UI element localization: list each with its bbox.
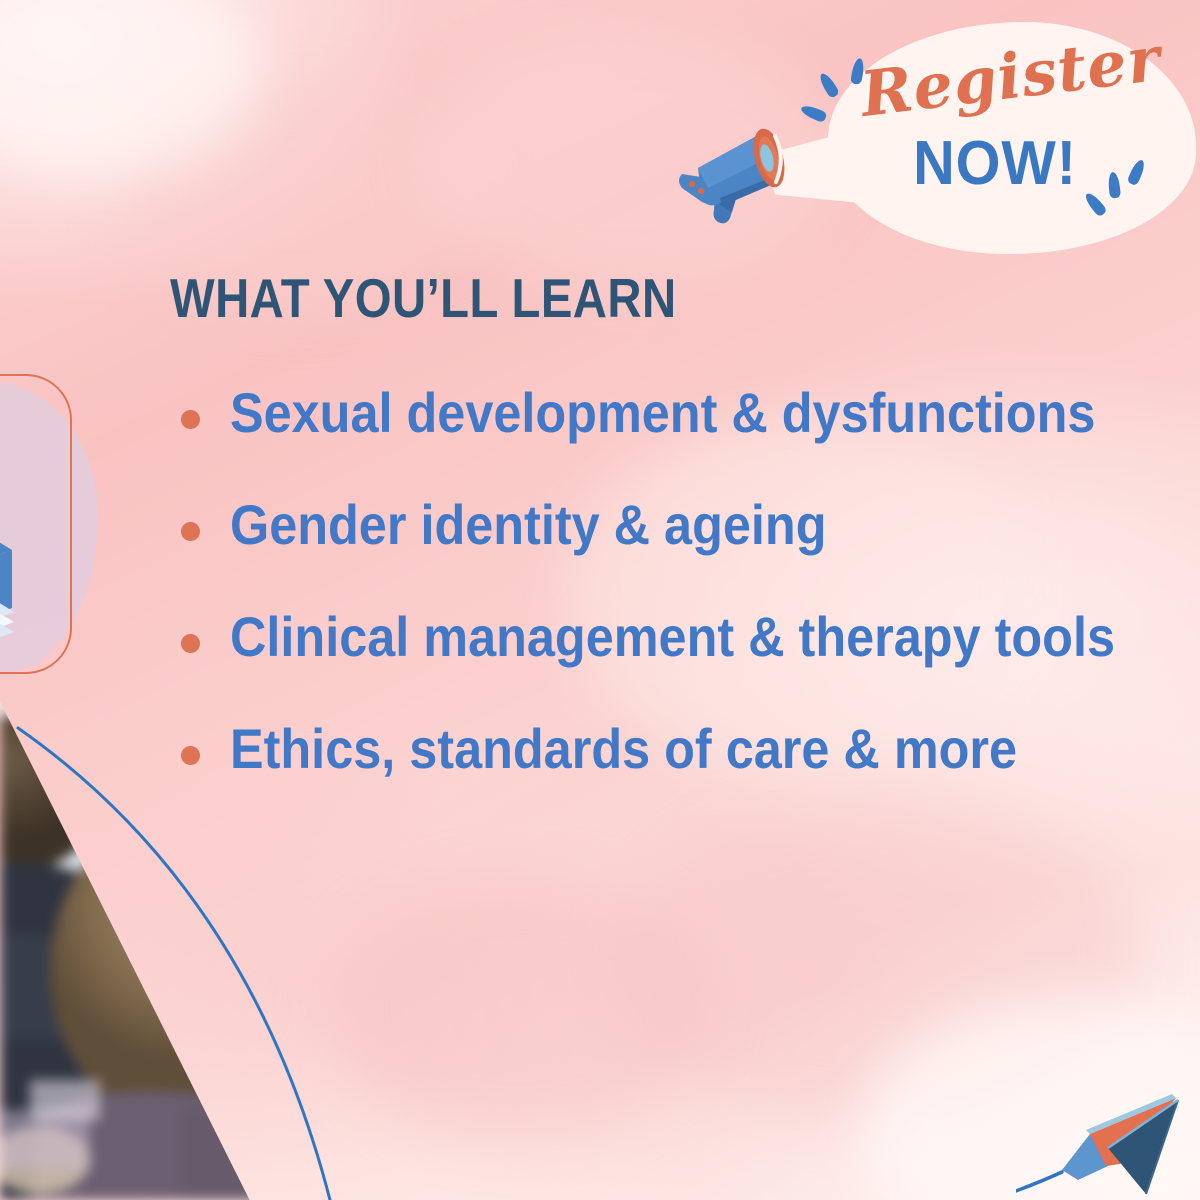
sparkle-burst-icon <box>1104 158 1164 218</box>
list-item-label: Gender identity & ageing <box>230 496 826 555</box>
page-title: WHAT YOU’LL LEARN <box>170 266 677 330</box>
bullet-dot-icon <box>181 746 200 765</box>
list-item: Clinical management & therapy tools <box>178 608 1178 720</box>
list-item: Gender identity & ageing <box>178 496 1178 608</box>
paper-plane-icon <box>1016 1088 1200 1200</box>
watercolor-blotch <box>0 0 260 180</box>
list-item-label: Ethics, standards of care & more <box>230 720 1017 779</box>
megaphone-icon <box>668 118 808 228</box>
poster-canvas: Register NOW! <box>0 0 1200 1200</box>
bullet-dot-icon <box>181 634 200 653</box>
bullet-dot-icon <box>181 522 200 541</box>
sparkle-burst-icon <box>824 58 884 118</box>
list-item: Sexual development & dysfunctions <box>178 384 1178 496</box>
list-item-label: Sexual development & dysfunctions <box>230 384 1095 443</box>
watercolor-blotch <box>330 880 710 1140</box>
stacked-books-icon <box>0 372 178 692</box>
list-item: Ethics, standards of care & more <box>178 720 1178 832</box>
bullet-dot-icon <box>181 410 200 429</box>
watercolor-blotch <box>620 800 1140 1120</box>
list-item-label: Clinical management & therapy tools <box>230 608 1115 667</box>
register-now-text: NOW! <box>888 128 1102 199</box>
learning-outcomes-list: Sexual development & dysfunctions Gender… <box>178 384 1178 832</box>
